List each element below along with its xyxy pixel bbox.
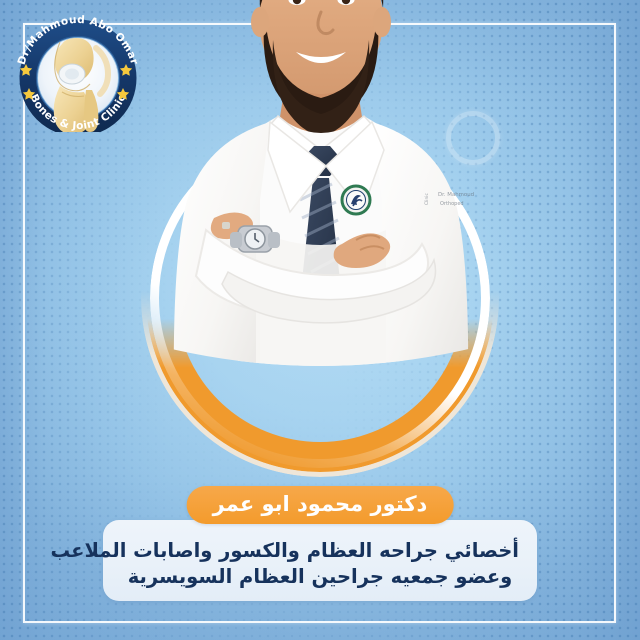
doctor-portrait-photo: Dr. Mahmoud Orthoped Clinic [110,0,530,400]
clinic-promo-poster: Dr. Mahmoud Orthoped Clinic [0,0,640,640]
credentials-panel: أخصائي جراحه العظام والكسور واصابات المل… [103,520,537,601]
credentials-line-2: وعضو جمعيه جراحين العظام السويسرية [121,564,519,590]
clinic-logo: Dr/Mahmoud Abo Omar Bones & Joint Clinic [9,12,147,132]
svg-text:Dr. Mahmoud: Dr. Mahmoud [438,192,474,198]
svg-text:Clinic: Clinic [424,192,430,205]
doctor-name-badge: دكتور محمود ابو عمر [187,486,454,524]
credentials-line-1: أخصائي جراحه العظام والكسور واصابات المل… [121,538,519,564]
svg-text:Orthoped: Orthoped [440,201,464,207]
